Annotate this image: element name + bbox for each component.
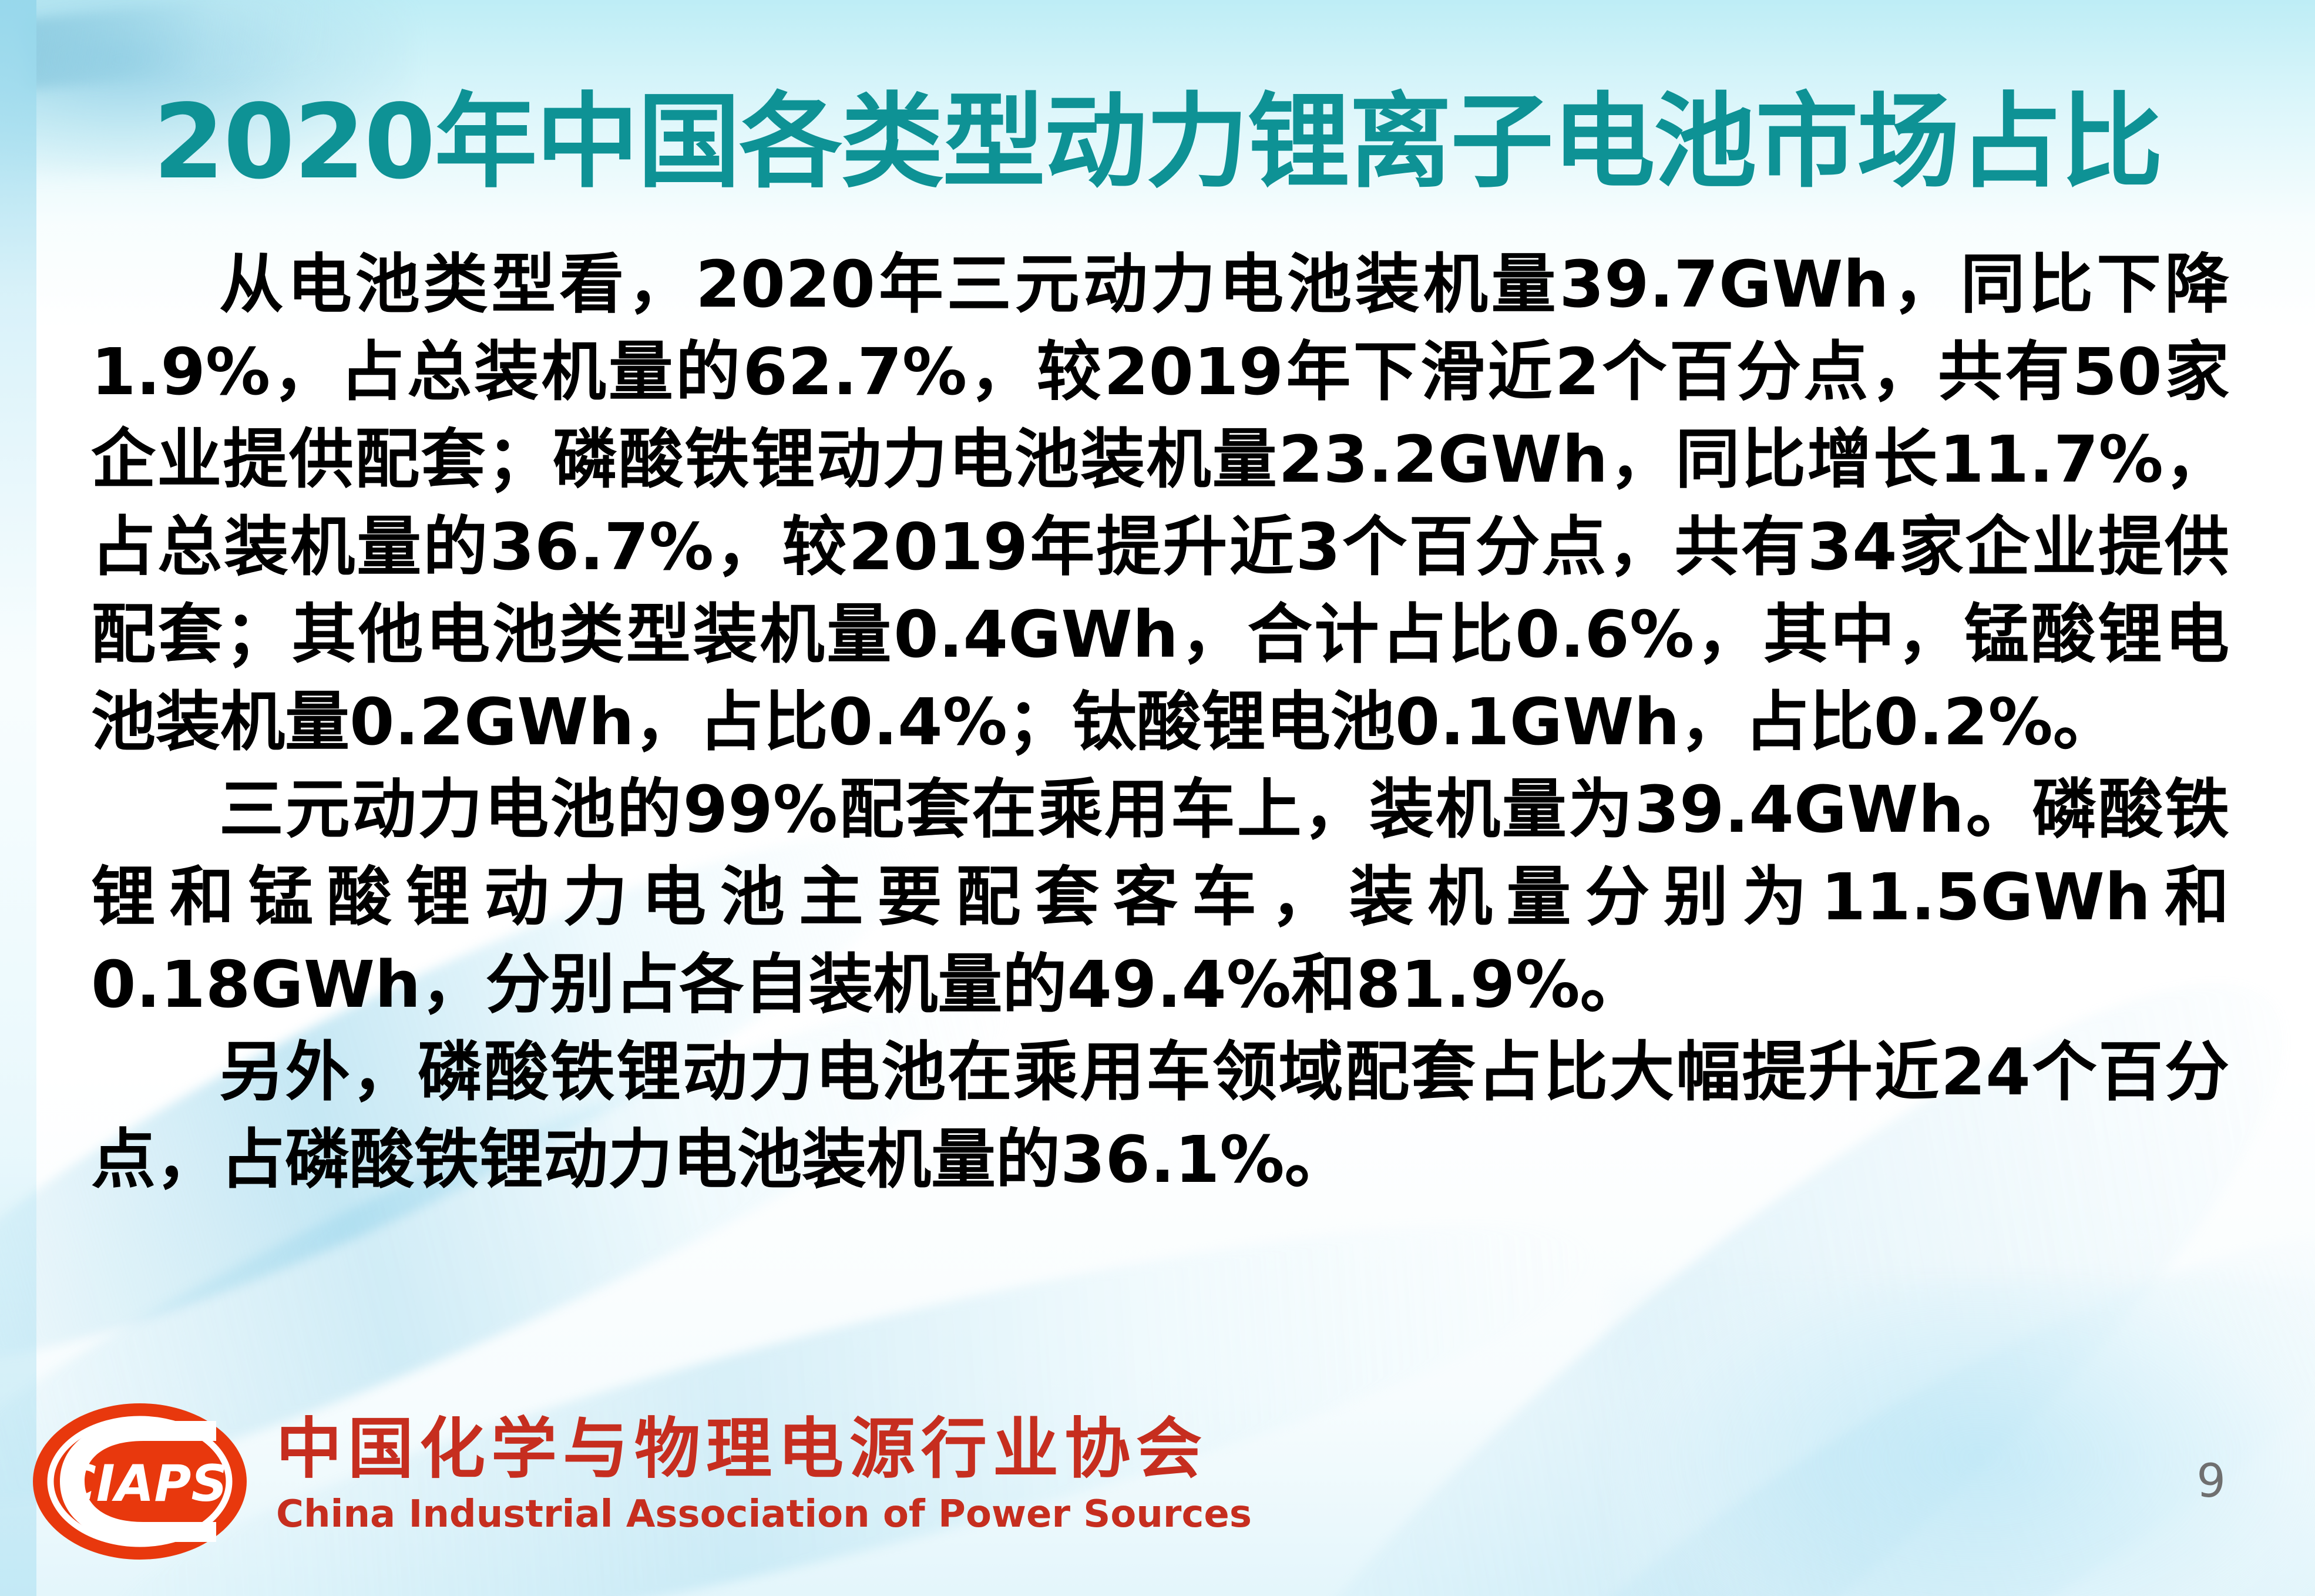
organization-name-cn: 中国化学与物理电源行业协会: [276, 1413, 1252, 1486]
slide-title: 2020年中国各类型动力锂离子电池市场占比: [0, 89, 2315, 196]
slide-body: 从电池类型看，2020年三元动力电池装机量39.7GWh，同比下降1.9%，占总…: [91, 241, 2229, 1204]
ciaps-logo: CIAPS: [28, 1396, 251, 1567]
organization-name-en: China Industrial Association of Power So…: [276, 1493, 1252, 1537]
organization-names: 中国化学与物理电源行业协会 China Industrial Associati…: [276, 1413, 1252, 1537]
body-paragraph-1: 从电池类型看，2020年三元动力电池装机量39.7GWh，同比下降1.9%，占总…: [91, 241, 2229, 766]
slide: 2020年中国各类型动力锂离子电池市场占比 从电池类型看，2020年三元动力电池…: [0, 0, 2315, 1596]
slide-footer: CIAPS 中国化学与物理电源行业协会 China Industrial Ass…: [0, 1361, 2315, 1596]
ciaps-logo-text: CIAPS: [59, 1454, 228, 1513]
body-paragraph-2: 三元动力电池的99%配套在乘用车上，装机量为39.4GWh。磷酸铁锂和锰酸锂动力…: [91, 766, 2229, 1029]
page-number: 9: [2196, 1455, 2226, 1508]
body-paragraph-3: 另外，磷酸铁锂动力电池在乘用车领域配套占比大幅提升近24个百分点，占磷酸铁锂动力…: [91, 1029, 2229, 1204]
